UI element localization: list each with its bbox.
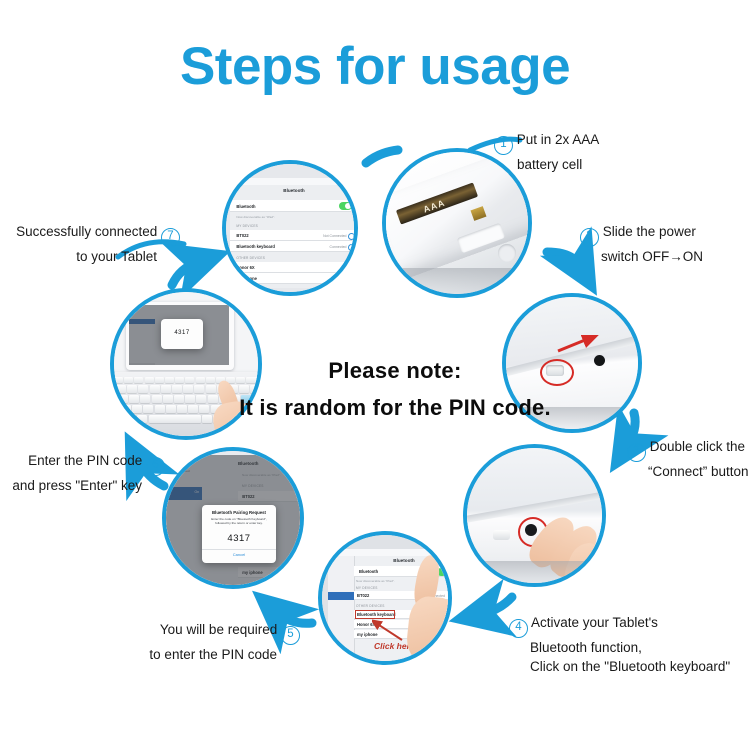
bluetooth-toggle[interactable]: [339, 202, 352, 210]
device-state: Not Connected: [323, 234, 346, 238]
tablet-screen: Not Connected On Bluetooth Now discovera…: [166, 455, 304, 589]
keyboard-edge: [467, 448, 602, 583]
caption-line: and press "Enter" key: [0, 476, 165, 495]
caption-line: to enter the PIN code: [110, 645, 300, 664]
caption-line: Put in 2x AAA: [517, 132, 600, 147]
photo-step-7-connected: 10:45 91% Bluetooth Bluetooth Now discov…: [222, 160, 358, 296]
step-number-2: 2: [580, 228, 599, 247]
device-row-iphone[interactable]: my iphone: [230, 273, 358, 284]
photo-step-4-click-bluetooth-keyboard: Bluetooth Bluetooth Now discoverable as …: [318, 531, 452, 665]
device-row-bt022[interactable]: BT022 Not Connected: [230, 230, 358, 241]
screw-hole: [498, 244, 516, 262]
caption-line: Enter the PIN code: [28, 453, 142, 468]
device-name: BT022: [236, 233, 248, 238]
pairing-pin-code: 4317: [202, 533, 276, 544]
photo-shadow: [467, 561, 602, 583]
caption-line: Slide the power: [603, 224, 696, 239]
info-icon[interactable]: [348, 233, 355, 240]
tablet-photo: Bluetooth Bluetooth Now discoverable as …: [322, 535, 448, 661]
caption-line: Click on the "Bluetooth keyboard": [509, 657, 730, 676]
caption-line: “Connect” button: [627, 462, 749, 481]
caption-line: Successfully connected: [16, 224, 157, 239]
caption-line: to your Tablet: [0, 247, 180, 266]
caption-line: You will be required: [160, 622, 277, 637]
step-number-6: 6: [146, 457, 165, 476]
my-devices-header: MY DEVICES: [356, 586, 378, 590]
nav-title: Bluetooth: [230, 188, 358, 193]
slide-direction-arrow: [556, 335, 600, 357]
tablet-photo: 10:45 91% Bluetooth Bluetooth Now discov…: [226, 164, 354, 292]
step-number-4: 4: [509, 619, 528, 638]
dialog-title: Bluetooth Pairing Request: [202, 510, 276, 515]
bluetooth-label: Bluetooth: [236, 204, 255, 209]
caption-step-1: 1 Put in 2x AAA battery cell: [494, 130, 599, 174]
cancel-button[interactable]: Cancel: [202, 552, 276, 557]
please-note-block: Please note: It is random for the PIN co…: [205, 358, 585, 421]
device-name: BT022: [357, 593, 369, 598]
caption-step-6: Enter the PIN code 6 and press "Enter" k…: [0, 451, 165, 495]
tablet-screen: 10:45 91% Bluetooth Bluetooth Now discov…: [230, 178, 358, 288]
caption-step-4: 4 Activate your Tablet's Bluetooth funct…: [509, 613, 730, 676]
device-name: Honor 6X: [236, 265, 254, 270]
bluetooth-label: Bluetooth: [359, 569, 378, 574]
other-devices-header: OTHER DEVICES: [236, 256, 265, 260]
power-switch: [493, 530, 510, 540]
dialog-body: Enter the code on "Bluetooth Keyboard", …: [206, 517, 271, 525]
arrow-1-to-2: [547, 252, 580, 266]
highlight-box: [355, 610, 395, 619]
device-row-honor[interactable]: Honor 6X: [230, 262, 358, 273]
photo-step-5-pairing-request: Not Connected On Bluetooth Now discovera…: [162, 447, 304, 589]
device-name: Bluetooth keyboard: [236, 244, 274, 249]
space-key[interactable]: [149, 415, 201, 423]
step-number-5: 5: [281, 626, 300, 645]
caption-step-2: 2 Slide the power switch OFF→ON: [580, 222, 703, 266]
arrow-3-to-4: [482, 597, 512, 614]
status-battery: 91%: [346, 178, 353, 182]
discoverable-text: Now discoverable as "iPad".: [236, 215, 275, 219]
bluetooth-pairing-dialog: 4317: [161, 319, 203, 349]
click-here-arrow: [372, 619, 406, 643]
status-time: 10:45: [236, 178, 245, 182]
device-name: my iphone: [236, 276, 256, 281]
bluetooth-pairing-dialog: Bluetooth Pairing Request Enter the code…: [202, 505, 276, 563]
other-devices-header: OTHER DEVICES: [356, 604, 385, 608]
info-icon[interactable]: [348, 244, 355, 251]
note-line-1: Please note:: [205, 358, 585, 384]
discoverable-text: Now discoverable as "iPad".: [356, 579, 395, 583]
tablet-screen: 4317: [129, 305, 229, 365]
step-number-3: 3: [627, 443, 646, 462]
caption-line: Double click the: [650, 439, 745, 454]
caption-line: Bluetooth function,: [509, 638, 730, 657]
caption-step-3: 3 Double click the “Connect” button: [627, 437, 749, 481]
infographic-canvas: Steps for usage AAA: [0, 0, 750, 750]
status-bar: 10:45 91%: [230, 178, 358, 185]
bluetooth-toggle-row[interactable]: Bluetooth: [230, 200, 358, 212]
device-row-bluetooth-keyboard[interactable]: Bluetooth keyboard Connected: [230, 241, 358, 252]
settings-sidebar: [328, 556, 355, 661]
device-state: Connected: [330, 245, 347, 249]
note-line-2: It is random for the PIN code.: [205, 395, 585, 421]
pairing-pin-code: 4317: [161, 330, 203, 336]
caption-line: switch OFF→ON: [580, 247, 703, 266]
page-title: Steps for usage: [0, 36, 750, 97]
caption-line: Activate your Tablet's: [531, 615, 658, 630]
caption-line: battery cell: [494, 155, 599, 174]
photo-step-3-connect-button: [463, 444, 606, 587]
dialog-separator: [202, 549, 276, 550]
tablet-photo: Not Connected On Bluetooth Now discovera…: [166, 451, 300, 585]
step-number-1: 1: [494, 136, 513, 155]
caption-step-7: Successfully connected 7 to your Tablet: [0, 222, 180, 266]
my-devices-header: MY DEVICES: [236, 224, 258, 228]
sidebar-item-general[interactable]: [330, 561, 356, 565]
step-number-7: 7: [161, 228, 180, 247]
sidebar-item-bluetooth-selected[interactable]: [328, 592, 354, 600]
caption-step-5: You will be required 5 to enter the PIN …: [110, 620, 300, 664]
photo-shadow: [386, 268, 528, 294]
